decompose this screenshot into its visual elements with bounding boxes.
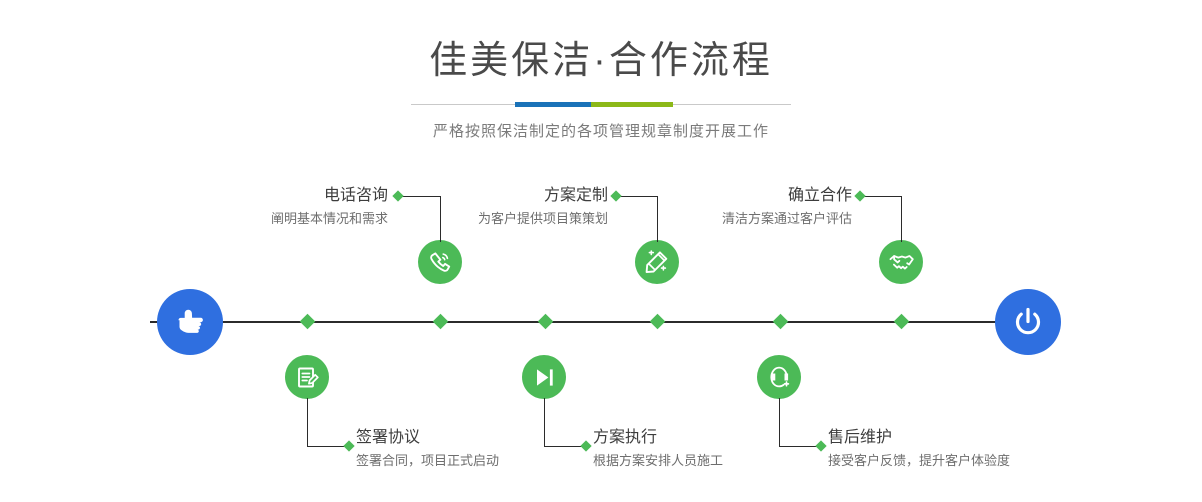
play-execute-icon (532, 365, 557, 390)
axis-node (300, 314, 316, 330)
flow-start-marker[interactable] (157, 289, 223, 355)
connector-stem-horizontal (860, 196, 902, 197)
step-icon-phone-consult[interactable] (418, 240, 462, 284)
connector-stem-vertical (901, 196, 902, 242)
connector-endpoint-dot (392, 190, 403, 201)
page-title: 佳美保洁·合作流程 (0, 42, 1202, 80)
step-icon-plan-execute[interactable] (522, 355, 566, 399)
step-label-plan-customize: 方案定制 为客户提供项目策策划 (478, 186, 608, 228)
timeline-axis (150, 321, 1052, 323)
pointing-hand-icon (172, 304, 208, 340)
connector-stem-vertical (657, 196, 658, 242)
flow-diagram-page: 佳美保洁·合作流程 严格按照保洁制定的各项管理规章制度开展工作 (0, 0, 1202, 502)
headset-support-icon (766, 364, 792, 390)
page-header: 佳美保洁·合作流程 严格按照保洁制定的各项管理规章制度开展工作 (0, 0, 1202, 141)
step-label-phone-consult: 电话咨询 阐明基本情况和需求 (271, 186, 388, 228)
axis-node (433, 314, 449, 330)
handshake-icon (888, 249, 915, 276)
step-icon-establish-cooperation[interactable] (879, 240, 923, 284)
connector-endpoint-dot (854, 190, 865, 201)
axis-node (773, 314, 789, 330)
document-edit-icon (295, 365, 320, 390)
step-icon-plan-customize[interactable] (635, 240, 679, 284)
divider-segment-green (591, 102, 673, 107)
connector-endpoint-dot (610, 190, 621, 201)
pencil-ruler-icon (644, 249, 670, 275)
connector-stem-horizontal (398, 196, 441, 197)
title-divider (411, 102, 791, 108)
step-label-plan-execute: 方案执行 根据方案安排人员施工 (593, 428, 723, 470)
axis-node (538, 314, 554, 330)
step-icon-after-sales[interactable] (757, 355, 801, 399)
phone-call-icon (427, 249, 453, 275)
connector-endpoint-dot (580, 440, 591, 451)
connector-stem-horizontal (544, 446, 585, 447)
axis-node (650, 314, 666, 330)
divider-segment-blue (515, 102, 591, 107)
power-button-icon (1011, 305, 1045, 339)
connector-stem-horizontal (616, 196, 658, 197)
page-subtitle: 严格按照保洁制定的各项管理规章制度开展工作 (0, 120, 1202, 141)
step-label-after-sales: 售后维护 接受客户反馈，提升客户体验度 (828, 428, 1010, 470)
step-icon-sign-agreement[interactable] (285, 355, 329, 399)
connector-stem-vertical (779, 398, 780, 446)
step-label-sign-agreement: 签署协议 签署合同，项目正式启动 (356, 428, 499, 470)
connector-endpoint-dot (343, 440, 354, 451)
connector-stem-vertical (307, 398, 308, 446)
flow-end-marker[interactable] (995, 289, 1061, 355)
connector-endpoint-dot (815, 440, 826, 451)
connector-stem-vertical (440, 196, 441, 242)
connector-stem-horizontal (779, 446, 820, 447)
connector-stem-horizontal (307, 446, 348, 447)
connector-stem-vertical (544, 398, 545, 446)
step-label-establish-cooperation: 确立合作 清洁方案通过客户评估 (722, 186, 852, 228)
axis-node (894, 314, 910, 330)
